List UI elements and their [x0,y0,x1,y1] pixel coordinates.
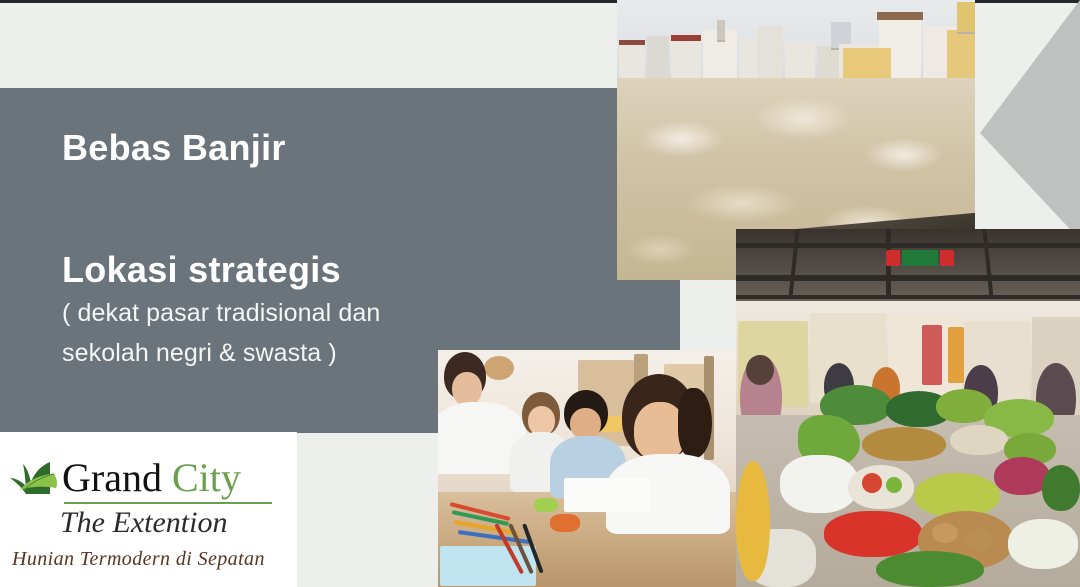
market-hanging-goods [948,327,964,383]
paper-sheet [564,478,650,512]
craft-shape [534,498,558,512]
person-face [452,372,482,406]
flood-building [647,36,669,84]
subline-first: ( dekat pasar tradisional dan [62,297,582,329]
flood-roof [877,12,923,20]
craft-shape [550,514,580,532]
logo-word-city: City [172,455,241,500]
flood-roof [671,35,701,41]
market-beam [736,275,1080,281]
market-sign-red-right [940,250,954,266]
produce-item [886,477,902,493]
flood-roof [619,40,645,45]
grand-city-logo: Grand City The Extention Hunian Termoder… [0,432,297,587]
produce-limes [914,473,1000,517]
produce-greens [876,551,984,587]
classroom-item [484,356,514,380]
logo-tagline-script: The Extention [60,506,227,540]
produce-tomato [862,473,882,493]
headline-lokasi-strategis: Lokasi strategis [62,250,582,290]
produce-greens [1042,465,1080,511]
market-hanging-goods [922,325,942,385]
produce-chillies [824,511,922,557]
logo-wordmark: Grand City [62,458,241,498]
logo-tagline-small: Hunian Termodern di Sepatan [12,548,265,571]
produce-bag [780,455,858,513]
flood-building [757,26,783,84]
child-hair [678,388,712,458]
presentation-slide: Bebas Banjir Lokasi strategis ( dekat pa… [0,0,1080,587]
headline-bebas-banjir: Bebas Banjir [62,128,582,168]
logo-word-grand: Grand [62,455,172,500]
produce-tray [950,425,1008,455]
market-sign-red-left [886,250,900,266]
photo-school [438,350,736,587]
flood-tower-yellow [957,2,975,34]
slide-text-block: Bebas Banjir Lokasi strategis ( dekat pa… [62,128,582,369]
produce-nuts [862,427,946,461]
photo-market [736,229,1080,587]
market-beam [736,243,1080,248]
market-sign-green [902,250,938,266]
market-shopper [736,461,770,581]
produce-potato [964,529,992,551]
flood-building [671,40,701,84]
produce-potato [932,523,958,543]
produce-cauliflower [1008,519,1078,569]
flood-chimney [717,20,725,42]
logo-underline [64,502,272,504]
corner-chevron-shape [975,0,1080,240]
market-shopper-head [746,355,774,385]
